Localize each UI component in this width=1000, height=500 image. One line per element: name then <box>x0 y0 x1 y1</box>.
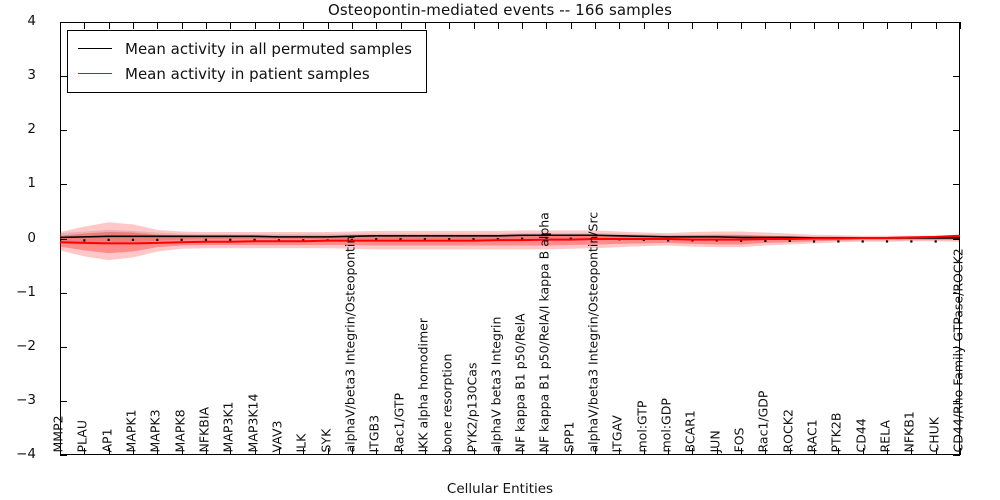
x-tick-label: RELA <box>880 420 893 452</box>
x-tick-label: AP1 <box>101 428 114 452</box>
y-tick-mark <box>953 455 960 456</box>
legend-item[interactable]: Mean activity in patient samples <box>78 61 412 86</box>
x-axis-title: Cellular Entities <box>0 481 1000 497</box>
x-tick-label: FOS <box>734 427 747 452</box>
x-tick-label: NFKB1 <box>904 411 917 452</box>
x-tick-label: MAP3K14 <box>247 393 260 452</box>
x-tick-label: MAPK1 <box>125 409 138 452</box>
legend-item[interactable]: Mean activity in all permuted samples <box>78 36 412 61</box>
x-tick-label: bone resorption <box>442 353 455 452</box>
x-tick-label: JUN <box>709 430 722 452</box>
x-tick-label: ILK <box>296 433 309 452</box>
x-tick-label: alphaV/beta3 Integrin/Osteopontin <box>344 235 357 452</box>
x-tick-label: IKK alpha homodimer <box>417 318 430 453</box>
x-tick-label: NF kappa B1 p50/RelA <box>515 313 528 452</box>
x-tick-label: ROCK2 <box>782 409 795 452</box>
x-tick-label: alphaV beta3 Integrin <box>490 316 503 452</box>
x-tick-label: PTK2B <box>831 412 844 452</box>
x-tick-label: NFKBIA <box>198 406 211 452</box>
x-tick-label: BCAR1 <box>685 410 698 452</box>
x-tick-label: mol:GDP <box>661 398 674 452</box>
y-tick-mark <box>60 455 67 456</box>
x-tick-label: CD44 <box>855 418 868 452</box>
x-tick-label: SPP1 <box>563 421 576 452</box>
x-tick-label: MMP2 <box>53 415 66 452</box>
legend-color-swatch <box>78 48 112 49</box>
x-tick-label: NF kappa B1 p50/RelA/I kappa B alpha <box>539 212 552 452</box>
chart-figure: Osteopontin-mediated events -- 166 sampl… <box>0 0 1000 500</box>
x-tick-label: SYK <box>320 428 333 452</box>
x-tick-label: mol:GTP <box>636 400 649 452</box>
x-tick-label: VAV3 <box>271 420 284 452</box>
x-tick-label: ITGAV <box>612 415 625 452</box>
chart-legend: Mean activity in all permuted samplesMea… <box>67 30 427 93</box>
x-tick-label: CD44/Rho Family GTPase/ROCK2 <box>953 248 966 452</box>
x-tick-label: PYK2/p130Cas <box>466 362 479 452</box>
x-tick-label: MAPK8 <box>174 409 187 452</box>
x-tick-label: CHUK <box>928 417 941 452</box>
legend-label: Mean activity in patient samples <box>125 65 370 83</box>
x-tick-label: PLAU <box>77 420 90 453</box>
x-tick-label: ITGB3 <box>369 414 382 452</box>
legend-color-swatch <box>78 73 112 74</box>
x-tick-label: Rac1/GDP <box>758 390 771 452</box>
x-tick-label: MAPK3 <box>150 409 163 452</box>
legend-label: Mean activity in all permuted samples <box>125 40 412 58</box>
x-tick-label: MAP3K1 <box>223 401 236 452</box>
x-tick-label: Rac1/GTP <box>393 392 406 452</box>
x-tick-label: alphaV/beta3 Integrin/Osteopontin/Src <box>588 211 601 452</box>
x-tick-label: RAC1 <box>807 419 820 452</box>
